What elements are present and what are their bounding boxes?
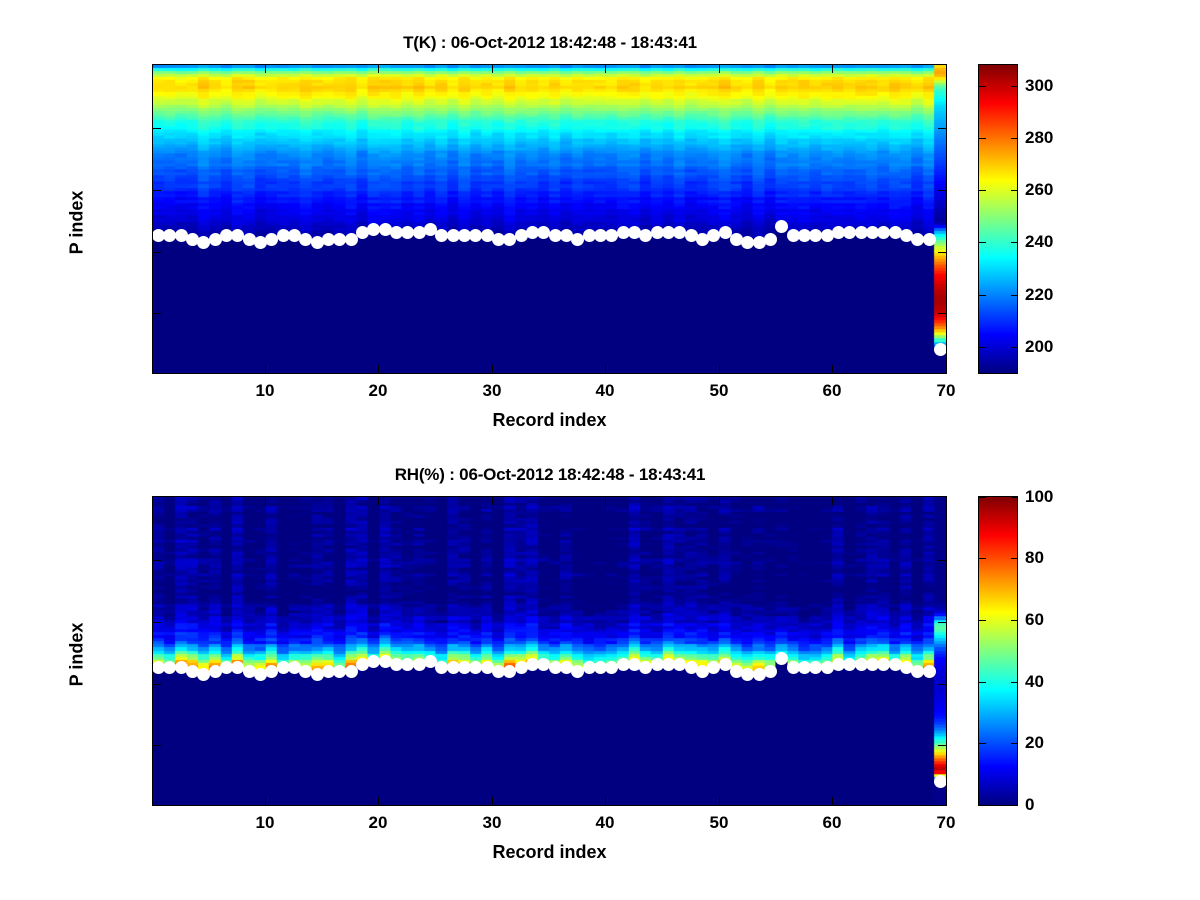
ytick-mark-t-40 [152, 190, 161, 191]
ytick-mark-t-80-right [938, 313, 947, 314]
cb-tick-t-280-r [1011, 138, 1018, 139]
cb-tick-rh-100-r [1011, 497, 1018, 498]
ytick-mark-t-40-right [938, 190, 947, 191]
xtick-mark-rh-40 [605, 797, 606, 806]
xtick-label-rh-50: 50 [710, 813, 729, 833]
humidity-panel-title: RH(%) : 06-Oct-2012 18:42:48 - 18:43:41 [152, 465, 948, 485]
temperature-colorbar-gradient [979, 65, 1017, 373]
xtick-mark-rh-20-top [378, 496, 379, 505]
cb-tick-t-200 [979, 347, 986, 348]
cb-tick-t-300 [979, 86, 986, 87]
xtick-mark-rh-20 [378, 797, 379, 806]
xtick-mark-t-50 [719, 365, 720, 374]
ytick-mark-t-20-right [938, 128, 947, 129]
ytick-mark-rh-80 [152, 745, 161, 746]
cb-tick-rh-0-r [1011, 805, 1018, 806]
cb-tick-t-240 [979, 242, 986, 243]
xtick-mark-t-10 [265, 365, 266, 374]
xtick-label-t-50: 50 [710, 381, 729, 401]
ytick-mark-rh-20 [152, 560, 161, 561]
cb-tick-rh-20-r [1011, 743, 1018, 744]
humidity-colorbar[interactable] [978, 496, 1018, 806]
xtick-mark-t-40 [605, 365, 606, 374]
figure-canvas: T(K) : 06-Oct-2012 18:42:48 - 18:43:41 2… [0, 0, 1200, 900]
xtick-label-rh-30: 30 [483, 813, 502, 833]
cb-tick-t-220 [979, 295, 986, 296]
xtick-label-rh-10: 10 [256, 813, 275, 833]
xtick-mark-t-50-top [719, 64, 720, 73]
cb-label-t-240: 240 [1025, 232, 1053, 252]
xtick-label-rh-20: 20 [369, 813, 388, 833]
xtick-label-t-10: 10 [256, 381, 275, 401]
ytick-mark-rh-60-right [938, 684, 947, 685]
cb-label-rh-60: 60 [1025, 610, 1044, 630]
xtick-mark-rh-70-top [946, 496, 947, 505]
xtick-mark-rh-50-top [719, 496, 720, 505]
xtick-label-t-30: 30 [483, 381, 502, 401]
xtick-label-rh-40: 40 [596, 813, 615, 833]
temperature-panel: T(K) : 06-Oct-2012 18:42:48 - 18:43:41 2… [0, 0, 1200, 450]
temperature-heatmap-axes[interactable] [152, 64, 947, 374]
ytick-mark-rh-40-right [938, 622, 947, 623]
xtick-label-t-40: 40 [596, 381, 615, 401]
cb-tick-rh-20 [979, 743, 986, 744]
cb-tick-rh-40 [979, 682, 986, 683]
xtick-mark-t-70-top [946, 64, 947, 73]
temperature-yaxis-label: P index [67, 143, 88, 303]
humidity-xaxis-label: Record index [152, 842, 947, 863]
xtick-label-t-20: 20 [369, 381, 388, 401]
cb-label-t-220: 220 [1025, 285, 1053, 305]
xtick-mark-rh-60 [832, 797, 833, 806]
cb-label-t-300: 300 [1025, 76, 1053, 96]
humidity-heatmap-image [153, 497, 946, 805]
xtick-label-rh-60: 60 [823, 813, 842, 833]
ytick-mark-rh-80-right [938, 745, 947, 746]
cb-tick-t-200-r [1011, 347, 1018, 348]
xtick-mark-t-10-top [265, 64, 266, 73]
cb-label-t-260: 260 [1025, 180, 1053, 200]
cb-tick-rh-80 [979, 558, 986, 559]
ytick-mark-rh-20-right [938, 560, 947, 561]
xtick-label-t-70: 70 [937, 381, 956, 401]
humidity-colorbar-gradient [979, 497, 1017, 805]
cb-tick-t-280 [979, 138, 986, 139]
cb-tick-rh-40-r [1011, 682, 1018, 683]
cb-tick-t-300-r [1011, 86, 1018, 87]
cb-tick-rh-0 [979, 805, 986, 806]
xtick-mark-rh-30 [492, 797, 493, 806]
ytick-mark-rh-60 [152, 684, 161, 685]
cb-tick-rh-60 [979, 620, 986, 621]
xtick-mark-rh-40-top [605, 496, 606, 505]
cb-tick-t-240-r [1011, 242, 1018, 243]
xtick-mark-t-30 [492, 365, 493, 374]
cb-tick-rh-80-r [1011, 558, 1018, 559]
cb-tick-rh-60-r [1011, 620, 1018, 621]
ytick-mark-rh-40 [152, 622, 161, 623]
temperature-heatmap-image [153, 65, 946, 373]
xtick-label-t-60: 60 [823, 381, 842, 401]
ytick-mark-t-60-right [938, 252, 947, 253]
cb-label-rh-40: 40 [1025, 672, 1044, 692]
cb-label-rh-80: 80 [1025, 548, 1044, 568]
xtick-mark-t-70 [946, 365, 947, 374]
temperature-xaxis-label: Record index [152, 410, 947, 431]
cb-tick-t-220-r [1011, 295, 1018, 296]
humidity-heatmap-axes[interactable] [152, 496, 947, 806]
cb-tick-t-260 [979, 190, 986, 191]
xtick-mark-t-40-top [605, 64, 606, 73]
humidity-yaxis-label: P index [67, 575, 88, 735]
cb-label-rh-100: 100 [1025, 487, 1053, 507]
cb-tick-t-260-r [1011, 190, 1018, 191]
humidity-panel: RH(%) : 06-Oct-2012 18:42:48 - 18:43:41 … [0, 443, 1200, 900]
xtick-mark-t-60 [832, 365, 833, 374]
xtick-mark-t-20-top [378, 64, 379, 73]
xtick-mark-rh-30-top [492, 496, 493, 505]
cb-label-rh-20: 20 [1025, 733, 1044, 753]
cb-label-rh-0: 0 [1025, 795, 1034, 815]
xtick-mark-t-30-top [492, 64, 493, 73]
ytick-mark-t-80 [152, 313, 161, 314]
temperature-colorbar[interactable] [978, 64, 1018, 374]
xtick-mark-rh-10 [265, 797, 266, 806]
xtick-label-rh-70: 70 [937, 813, 956, 833]
xtick-mark-rh-60-top [832, 496, 833, 505]
xtick-mark-t-60-top [832, 64, 833, 73]
ytick-mark-t-20 [152, 128, 161, 129]
xtick-mark-rh-10-top [265, 496, 266, 505]
ytick-mark-t-60 [152, 252, 161, 253]
xtick-mark-rh-70 [946, 797, 947, 806]
cb-label-t-280: 280 [1025, 128, 1053, 148]
cb-tick-rh-100 [979, 497, 986, 498]
temperature-panel-title: T(K) : 06-Oct-2012 18:42:48 - 18:43:41 [152, 33, 948, 53]
cb-label-t-200: 200 [1025, 337, 1053, 357]
xtick-mark-t-20 [378, 365, 379, 374]
xtick-mark-rh-50 [719, 797, 720, 806]
